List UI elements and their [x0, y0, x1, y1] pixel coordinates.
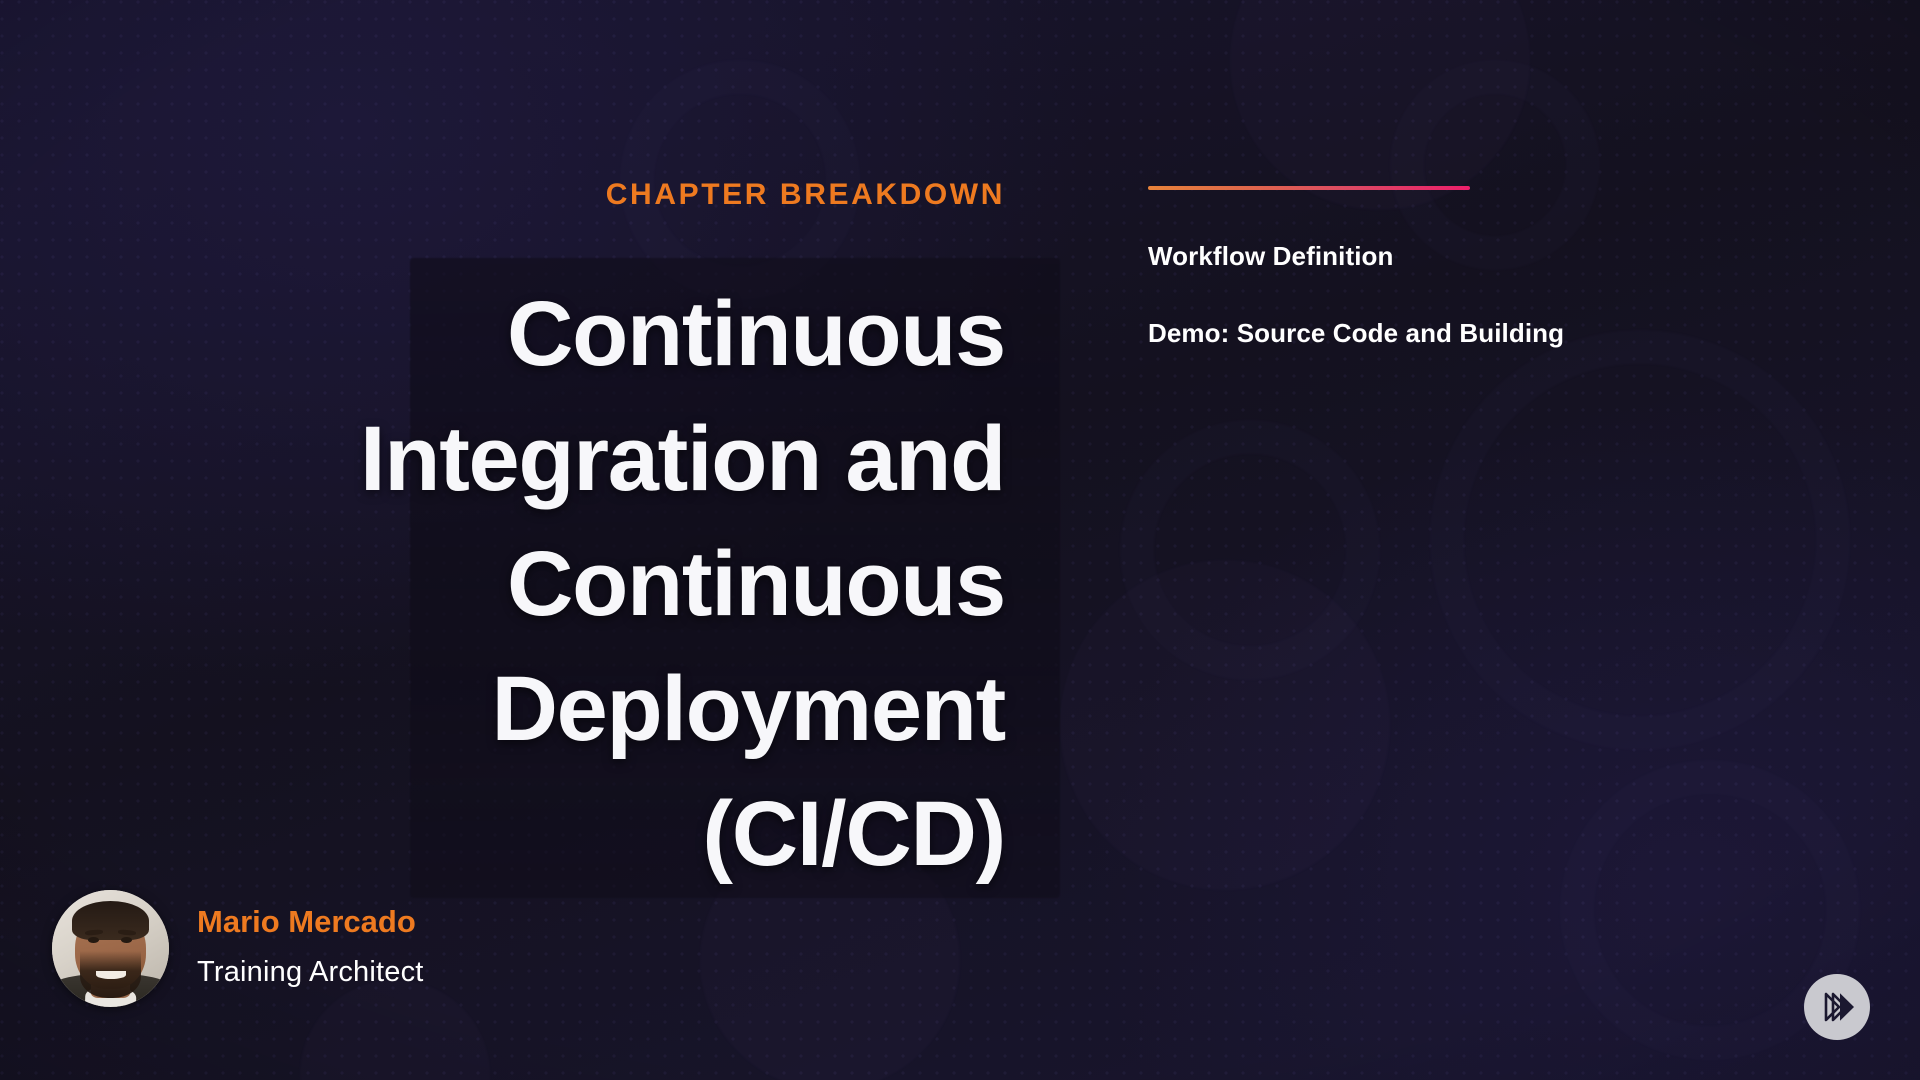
agenda-item-demo-source-code-and-building: Demo: Source Code and Building [1148, 318, 1788, 349]
presenter-name: Mario Mercado [197, 904, 424, 940]
title-line: Integration and [150, 397, 1005, 522]
presentation-slide: CHAPTER BREAKDOWN Continuous Integration… [0, 0, 1920, 1080]
title-line: (CI/CD) [150, 772, 1005, 897]
avatar [52, 890, 169, 1007]
avatar-eye [121, 937, 132, 943]
agenda-list: Workflow Definition Demo: Source Code an… [1148, 186, 1788, 349]
avatar-hair [72, 901, 149, 941]
play-triangle-logo-icon [1817, 988, 1857, 1026]
presenter-role: Training Architect [197, 956, 424, 989]
avatar-eye [88, 937, 99, 943]
avatar-mouth [96, 971, 125, 979]
agenda-item-workflow-definition: Workflow Definition [1148, 241, 1788, 272]
title-line: Continuous [150, 272, 1005, 397]
chapter-breakdown-eyebrow: CHAPTER BREAKDOWN [0, 178, 1005, 212]
presenter-text: Mario Mercado Training Architect [197, 904, 424, 993]
brand-logo[interactable] [1804, 974, 1870, 1040]
title-line: Continuous [150, 522, 1005, 647]
page-title: Continuous Integration and Continuous De… [150, 272, 1005, 897]
gradient-divider [1148, 186, 1470, 190]
title-line: Deployment [150, 647, 1005, 772]
presenter-info: Mario Mercado Training Architect [52, 890, 424, 1007]
